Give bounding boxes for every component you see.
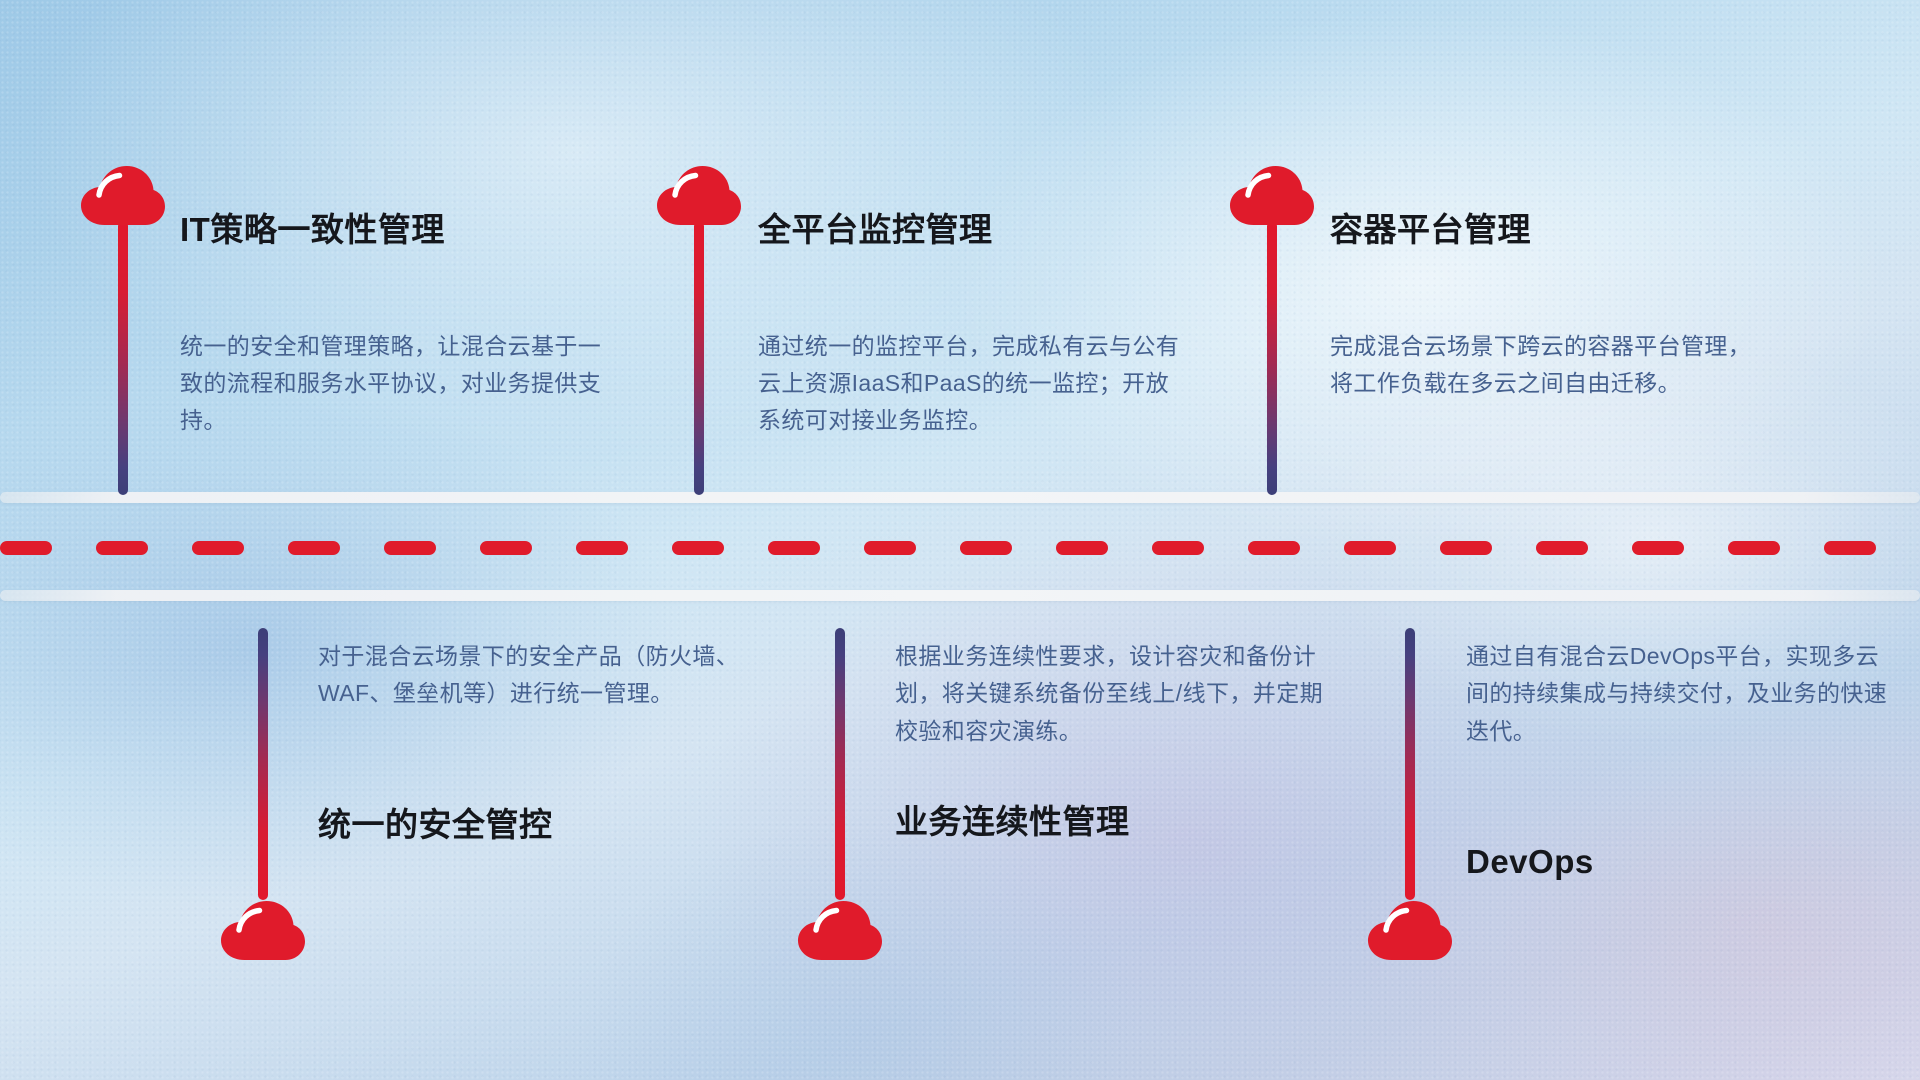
card-title: 统一的安全管控 <box>318 805 748 845</box>
divider-dash <box>1344 541 1396 555</box>
card-title: 业务连续性管理 <box>895 802 1325 842</box>
divider-dash <box>768 541 820 555</box>
card-body: 统一的安全和管理策略，让混合云基于一致的流程和服务水平协议，对业务提供支持。 <box>180 328 610 440</box>
cloud-icon <box>797 900 883 962</box>
divider-dashed-line <box>0 541 1920 555</box>
card-business-continuity: 根据业务连续性要求，设计容灾和备份计划，将关键系统备份至线上/线下，并定期校验和… <box>895 638 1325 841</box>
card-title: DevOps <box>1466 842 1896 882</box>
card-container-platform: 容器平台管理 完成混合云场景下跨云的容器平台管理，将工作负载在多云之间自由迁移。 <box>1330 210 1760 402</box>
infographic-canvas: IT策略一致性管理 统一的安全和管理策略，让混合云基于一致的流程和服务水平协议，… <box>0 0 1920 1080</box>
divider-dash <box>384 541 436 555</box>
cloud-icon <box>220 900 306 962</box>
card-body: 通过自有混合云DevOps平台，实现多云间的持续集成与持续交付，及业务的快速迭代… <box>1466 638 1896 750</box>
cloud-icon <box>656 165 742 227</box>
card-body: 完成混合云场景下跨云的容器平台管理，将工作负载在多云之间自由迁移。 <box>1330 328 1760 403</box>
card-title: IT策略一致性管理 <box>180 210 610 250</box>
cloud-icon <box>1229 165 1315 227</box>
pin-stem <box>835 628 845 900</box>
card-it-policy-consistency: IT策略一致性管理 统一的安全和管理策略，让混合云基于一致的流程和服务水平协议，… <box>180 210 610 439</box>
divider-dash <box>288 541 340 555</box>
pin-stem <box>118 221 128 495</box>
card-unified-security: 对于混合云场景下的安全产品（防火墙、WAF、堡垒机等）进行统一管理。 统一的安全… <box>318 638 748 844</box>
divider-dash <box>480 541 532 555</box>
divider-dash <box>1632 541 1684 555</box>
divider-dash <box>0 541 52 555</box>
divider-dash <box>864 541 916 555</box>
cloud-icon <box>1367 900 1453 962</box>
divider-dash <box>672 541 724 555</box>
card-title: 容器平台管理 <box>1330 210 1760 250</box>
divider-dash <box>1728 541 1780 555</box>
divider-dash <box>1056 541 1108 555</box>
divider-dash <box>1440 541 1492 555</box>
divider-dash <box>192 541 244 555</box>
card-title: 全平台监控管理 <box>758 210 1188 250</box>
card-full-platform-monitoring: 全平台监控管理 通过统一的监控平台，完成私有云与公有云上资源IaaS和PaaS的… <box>758 210 1188 439</box>
card-body: 通过统一的监控平台，完成私有云与公有云上资源IaaS和PaaS的统一监控；开放系… <box>758 328 1188 440</box>
divider-dash <box>576 541 628 555</box>
cloud-icon <box>80 165 166 227</box>
pin-stem <box>694 221 704 495</box>
divider-dash <box>1152 541 1204 555</box>
divider-dash <box>1248 541 1300 555</box>
card-body: 根据业务连续性要求，设计容灾和备份计划，将关键系统备份至线上/线下，并定期校验和… <box>895 638 1325 750</box>
divider-dash <box>960 541 1012 555</box>
card-body: 对于混合云场景下的安全产品（防火墙、WAF、堡垒机等）进行统一管理。 <box>318 638 748 713</box>
card-devops: 通过自有混合云DevOps平台，实现多云间的持续集成与持续交付，及业务的快速迭代… <box>1466 638 1896 881</box>
pin-stem <box>258 628 268 900</box>
divider-dash <box>1824 541 1876 555</box>
pin-stem <box>1405 628 1415 900</box>
divider-rail-top <box>0 492 1920 503</box>
divider-rail-bottom <box>0 590 1920 601</box>
divider-dash <box>96 541 148 555</box>
pin-stem <box>1267 221 1277 495</box>
divider-dash <box>1536 541 1588 555</box>
